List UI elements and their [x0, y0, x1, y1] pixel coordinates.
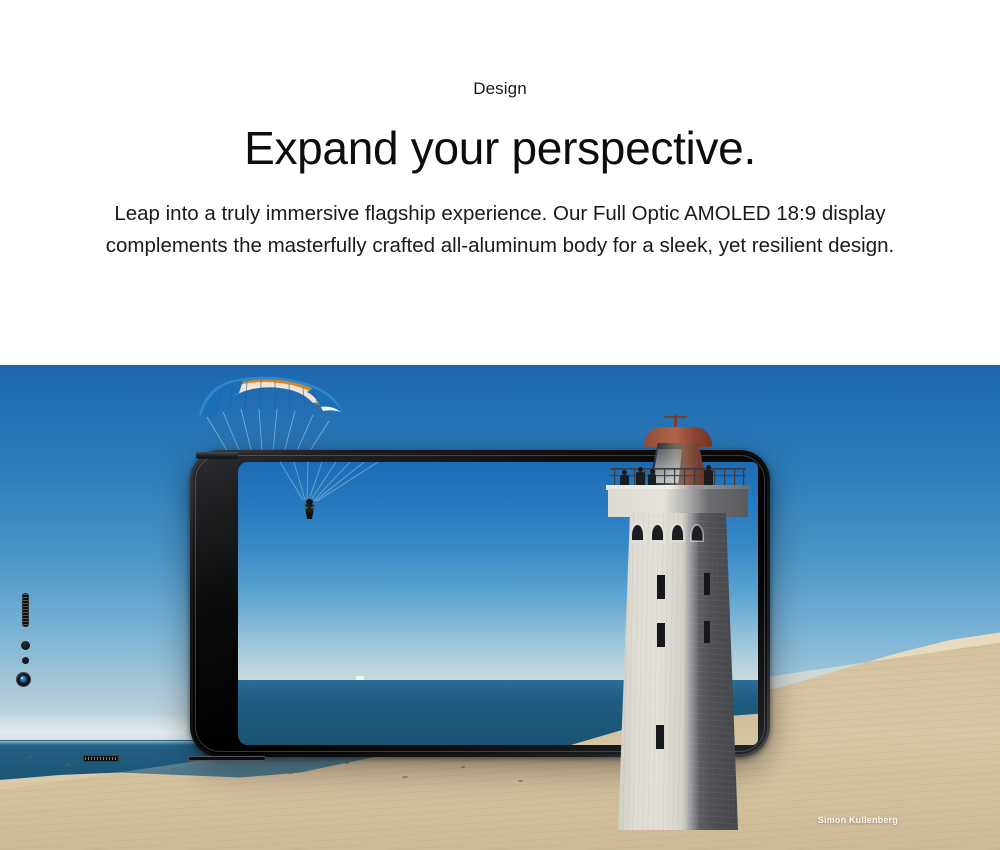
design-section-copy: Design Expand your perspective. Leap int…: [0, 0, 1000, 261]
earpiece-speaker-grille: [22, 593, 29, 627]
lighthouse-tower-texture: [618, 513, 738, 830]
proximity-sensor: [21, 641, 30, 650]
lighthouse-arch-frame: [630, 523, 645, 542]
usb-c-port: [188, 756, 266, 761]
lighthouse-arch-frame: [690, 524, 704, 542]
earpiece-mesh: [23, 594, 28, 626]
section-body-text: Leap into a truly immersive flagship exp…: [81, 198, 919, 261]
screen-boat: [356, 676, 364, 680]
paraglider-lines-on-screen: [278, 462, 388, 504]
hero-image: Simon Kullenberg: [0, 365, 1000, 850]
lighthouse-window: [656, 725, 664, 749]
lighthouse: [592, 425, 764, 830]
ambient-light-sensor: [22, 657, 29, 664]
lighthouse-arch-frame: [650, 523, 665, 542]
lighthouse-window-shaded: [704, 573, 710, 595]
lighthouse-gallery-deck: [608, 489, 748, 517]
loudspeaker-grille: [83, 755, 119, 762]
front-camera-glint: [21, 677, 23, 679]
lighthouse-window: [657, 623, 665, 647]
lighthouse-window-shaded: [704, 621, 710, 643]
photo-credit: Simon Kullenberg: [818, 815, 898, 825]
paraglider-pilot-on-screen: [301, 498, 318, 520]
speaker-holes: [85, 757, 117, 760]
lighthouse-window: [657, 575, 665, 599]
lighthouse-arch-frame: [670, 523, 685, 542]
page-title: Expand your perspective.: [0, 124, 1000, 172]
section-eyebrow: Design: [0, 80, 1000, 97]
lighthouse-gallery-railing: [610, 467, 746, 487]
power-button[interactable]: [196, 452, 238, 458]
